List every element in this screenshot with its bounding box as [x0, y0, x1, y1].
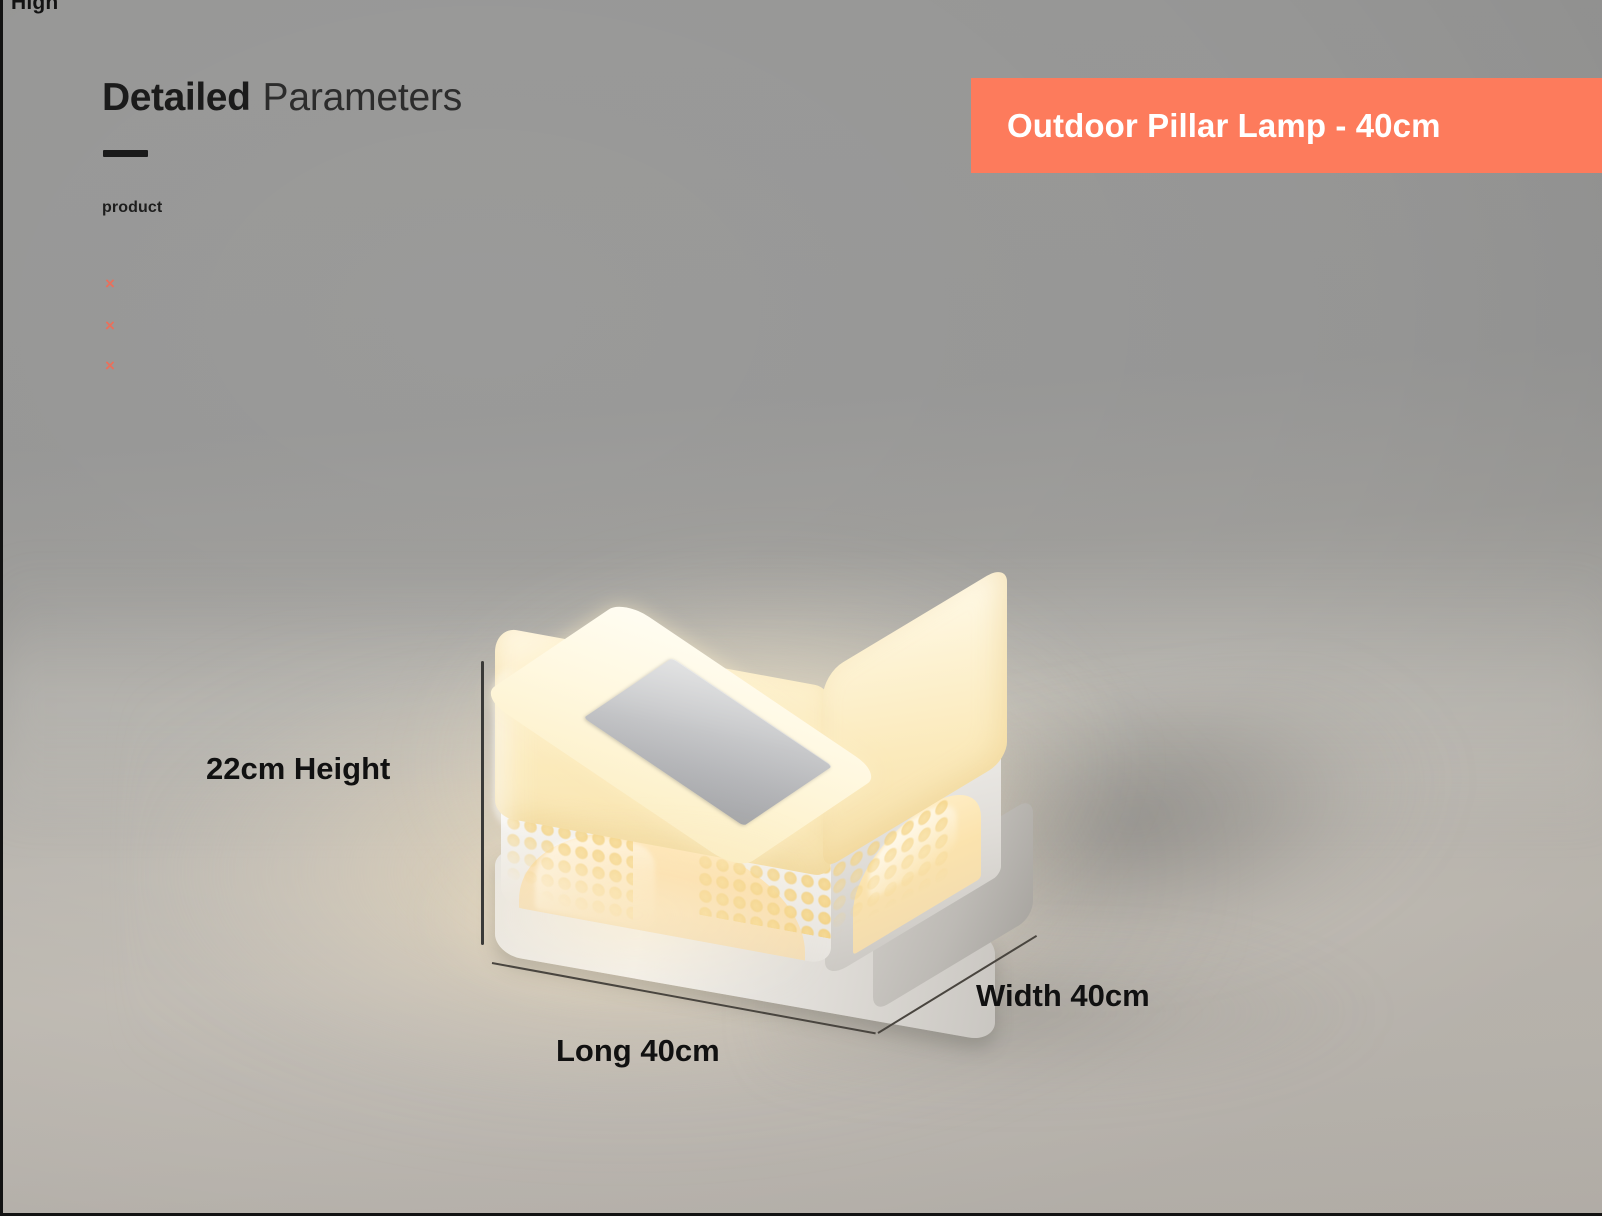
length-dimension-label: Long 40cm	[556, 1033, 720, 1069]
broken-image-placeholder-icon: ×	[105, 357, 115, 374]
product-image-lamp	[473, 545, 1113, 1015]
broken-image-placeholder-icon: ×	[105, 317, 115, 334]
top-cropped-caption: High	[11, 0, 58, 15]
width-dimension-label: Width 40cm	[976, 978, 1150, 1014]
height-dimension-label: 22cm Height	[206, 751, 390, 787]
page-subtitle: product	[102, 199, 162, 217]
broken-image-placeholder-icon: ×	[105, 275, 115, 292]
lamp-glowing-shade	[491, 585, 1011, 885]
height-dimension-line	[481, 661, 484, 945]
page-title: DetailedParameters	[102, 76, 462, 120]
lamp-shade-side-face	[823, 564, 1007, 871]
page-title-bold: Detailed	[102, 76, 251, 119]
product-detail-page: High DetailedParameters product × × × Ou…	[0, 0, 1602, 1216]
page-title-light: Parameters	[263, 76, 463, 119]
title-underline-rule	[103, 150, 148, 157]
product-name-banner-label: Outdoor Pillar Lamp - 40cm	[1007, 107, 1441, 145]
product-name-banner: Outdoor Pillar Lamp - 40cm	[971, 78, 1602, 173]
